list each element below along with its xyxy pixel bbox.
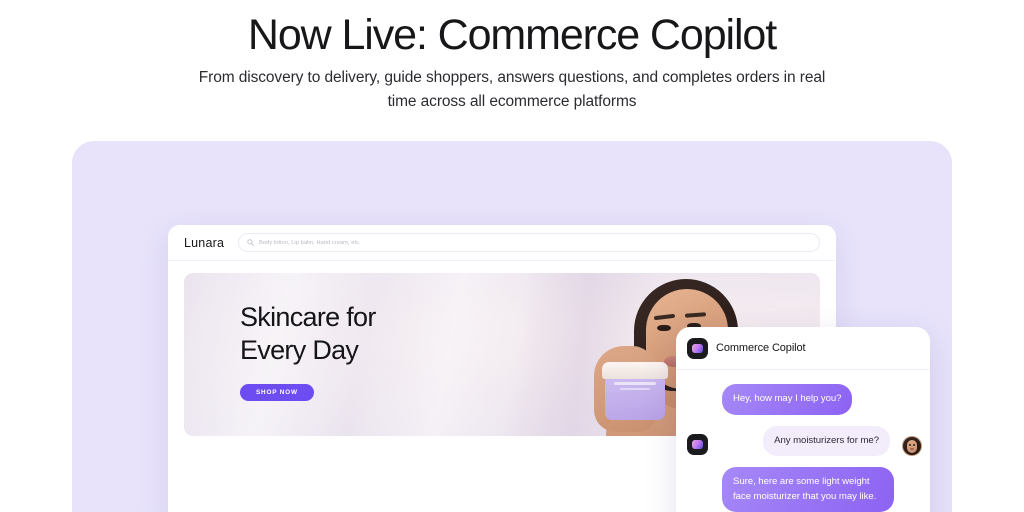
brand-logo: Lunara bbox=[184, 236, 224, 250]
hero-title-line2: Every Day bbox=[240, 334, 376, 367]
promo-banner: Now Live: Commerce Copilot From discover… bbox=[0, 0, 1024, 512]
copilot-chat-panel: Commerce Copilot Hey, how may I help you… bbox=[676, 327, 930, 512]
chat-bubble-bot: Hey, how may I help you? bbox=[722, 384, 852, 415]
storefront-header: Lunara Body lotion, Lip balm, Hand cream… bbox=[168, 225, 836, 261]
user-avatar bbox=[902, 436, 922, 456]
chat-message-list: Hey, how may I help you? Any moisturizer… bbox=[676, 370, 930, 512]
bot-avatar-icon bbox=[687, 434, 708, 455]
chat-bubble-bot: Sure, here are some light weight face mo… bbox=[722, 467, 894, 512]
search-input[interactable]: Body lotion, Lip balm, Hand cream, etc. bbox=[238, 233, 820, 252]
chat-row-user: Any moisturizers for me? bbox=[722, 426, 916, 457]
search-icon bbox=[247, 239, 254, 246]
cream-jar bbox=[602, 362, 668, 420]
hero-copy: Skincare for Every Day SHOP NOW bbox=[240, 301, 376, 401]
search-placeholder: Body lotion, Lip balm, Hand cream, etc. bbox=[259, 240, 361, 246]
chat-row-bot: Hey, how may I help you? bbox=[722, 384, 916, 415]
copilot-logo-icon bbox=[687, 338, 708, 359]
hero-title-line1: Skincare for bbox=[240, 301, 376, 334]
page-subtitle: From discovery to delivery, guide shoppe… bbox=[192, 66, 832, 114]
copilot-header: Commerce Copilot bbox=[676, 327, 930, 370]
product-showcase-stage: Lunara Body lotion, Lip balm, Hand cream… bbox=[72, 141, 952, 512]
chat-bubble-user: Any moisturizers for me? bbox=[763, 426, 890, 457]
chat-row-bot: Sure, here are some light weight face mo… bbox=[722, 467, 916, 512]
page-title: Now Live: Commerce Copilot bbox=[0, 8, 1024, 62]
shop-now-button[interactable]: SHOP NOW bbox=[240, 384, 314, 401]
copilot-title: Commerce Copilot bbox=[716, 342, 805, 354]
